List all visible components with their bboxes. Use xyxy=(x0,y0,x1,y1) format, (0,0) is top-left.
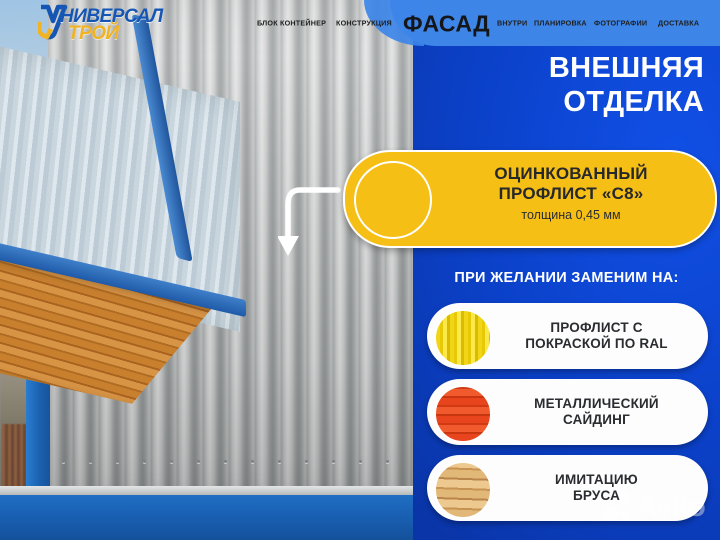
material-badge: ОЦИНКОВАННЫЙ ПРОФЛИСТ «С8» толщина 0,45 … xyxy=(343,150,717,248)
yellow-profile-sheet-icon xyxy=(434,309,492,367)
material-badge-subtitle: толщина 0,45 мм xyxy=(441,208,701,222)
material-badge-line2: ПРОФЛИСТ «С8» xyxy=(441,184,701,204)
nav-item-blok-konteyner[interactable]: БЛОК КОНТЕЙНЕР xyxy=(257,19,326,28)
option-pill-wood[interactable]: ИМИТАЦИЮ БРУСА xyxy=(427,455,708,521)
nav-item-fasad[interactable]: ФАСАД xyxy=(403,11,490,38)
option-label-ral: ПРОФЛИСТ С ПОКРАСКОЙ ПО RAL xyxy=(497,320,696,352)
nav-item-planirovka[interactable]: ПЛАНИРОВКА xyxy=(534,19,587,28)
material-badge-text: ОЦИНКОВАННЫЙ ПРОФЛИСТ «С8» толщина 0,45 … xyxy=(441,164,701,222)
page-title-line1: ВНЕШНЯЯ xyxy=(424,52,704,86)
blue-base-plinth xyxy=(0,494,432,540)
nav-item-fotografii[interactable]: ФОТОГРАФИИ xyxy=(594,19,647,28)
option-wood-line1: ИМИТАЦИЮ xyxy=(497,472,696,488)
option-wood-line2: БРУСА xyxy=(497,488,696,504)
nav-item-konstrukciya[interactable]: КОНСТРУКЦИЯ xyxy=(336,19,392,28)
options-heading: ПРИ ЖЕЛАНИИ ЗАМЕНИМ НА: xyxy=(413,270,720,286)
red-metal-siding-icon xyxy=(434,385,492,443)
page-title-line2: ОТДЕЛКА xyxy=(424,86,704,120)
nav-item-vnutri[interactable]: ВНУТРИ xyxy=(497,19,527,28)
option-label-wood: ИМИТАЦИЮ БРУСА xyxy=(497,472,696,504)
page-title: ВНЕШНЯЯ ОТДЕЛКА xyxy=(424,52,704,119)
option-pill-siding[interactable]: МЕТАЛЛИЧЕСКИЙ САЙДИНГ xyxy=(427,379,708,445)
option-label-siding: МЕТАЛЛИЧЕСКИЙ САЙДИНГ xyxy=(497,396,696,428)
facade-photo xyxy=(0,0,432,540)
entrance-canopy xyxy=(0,28,240,308)
promo-banner: НИВЕРСАЛ ТРОЙ БЛОК КОНТЕЙНЕР КОНСТРУКЦИЯ… xyxy=(0,0,720,540)
option-siding-line1: МЕТАЛЛИЧЕСКИЙ xyxy=(497,396,696,412)
option-ral-line2: ПОКРАСКОЙ ПО RAL xyxy=(497,336,696,352)
option-siding-line2: САЙДИНГ xyxy=(497,412,696,428)
galvanized-profile-icon xyxy=(354,161,432,239)
main-nav[interactable]: БЛОК КОНТЕЙНЕР КОНСТРУКЦИЯ ФАСАД ВНУТРИ … xyxy=(0,0,720,46)
nav-item-dostavka[interactable]: ДОСТАВКА xyxy=(658,19,699,28)
material-badge-line1: ОЦИНКОВАННЫЙ xyxy=(441,164,701,184)
option-pill-ral[interactable]: ПРОФЛИСТ С ПОКРАСКОЙ ПО RAL xyxy=(427,303,708,369)
wood-imitation-icon xyxy=(434,461,492,519)
wall-screw-row xyxy=(48,460,432,466)
option-ral-line1: ПРОФЛИСТ С xyxy=(497,320,696,336)
